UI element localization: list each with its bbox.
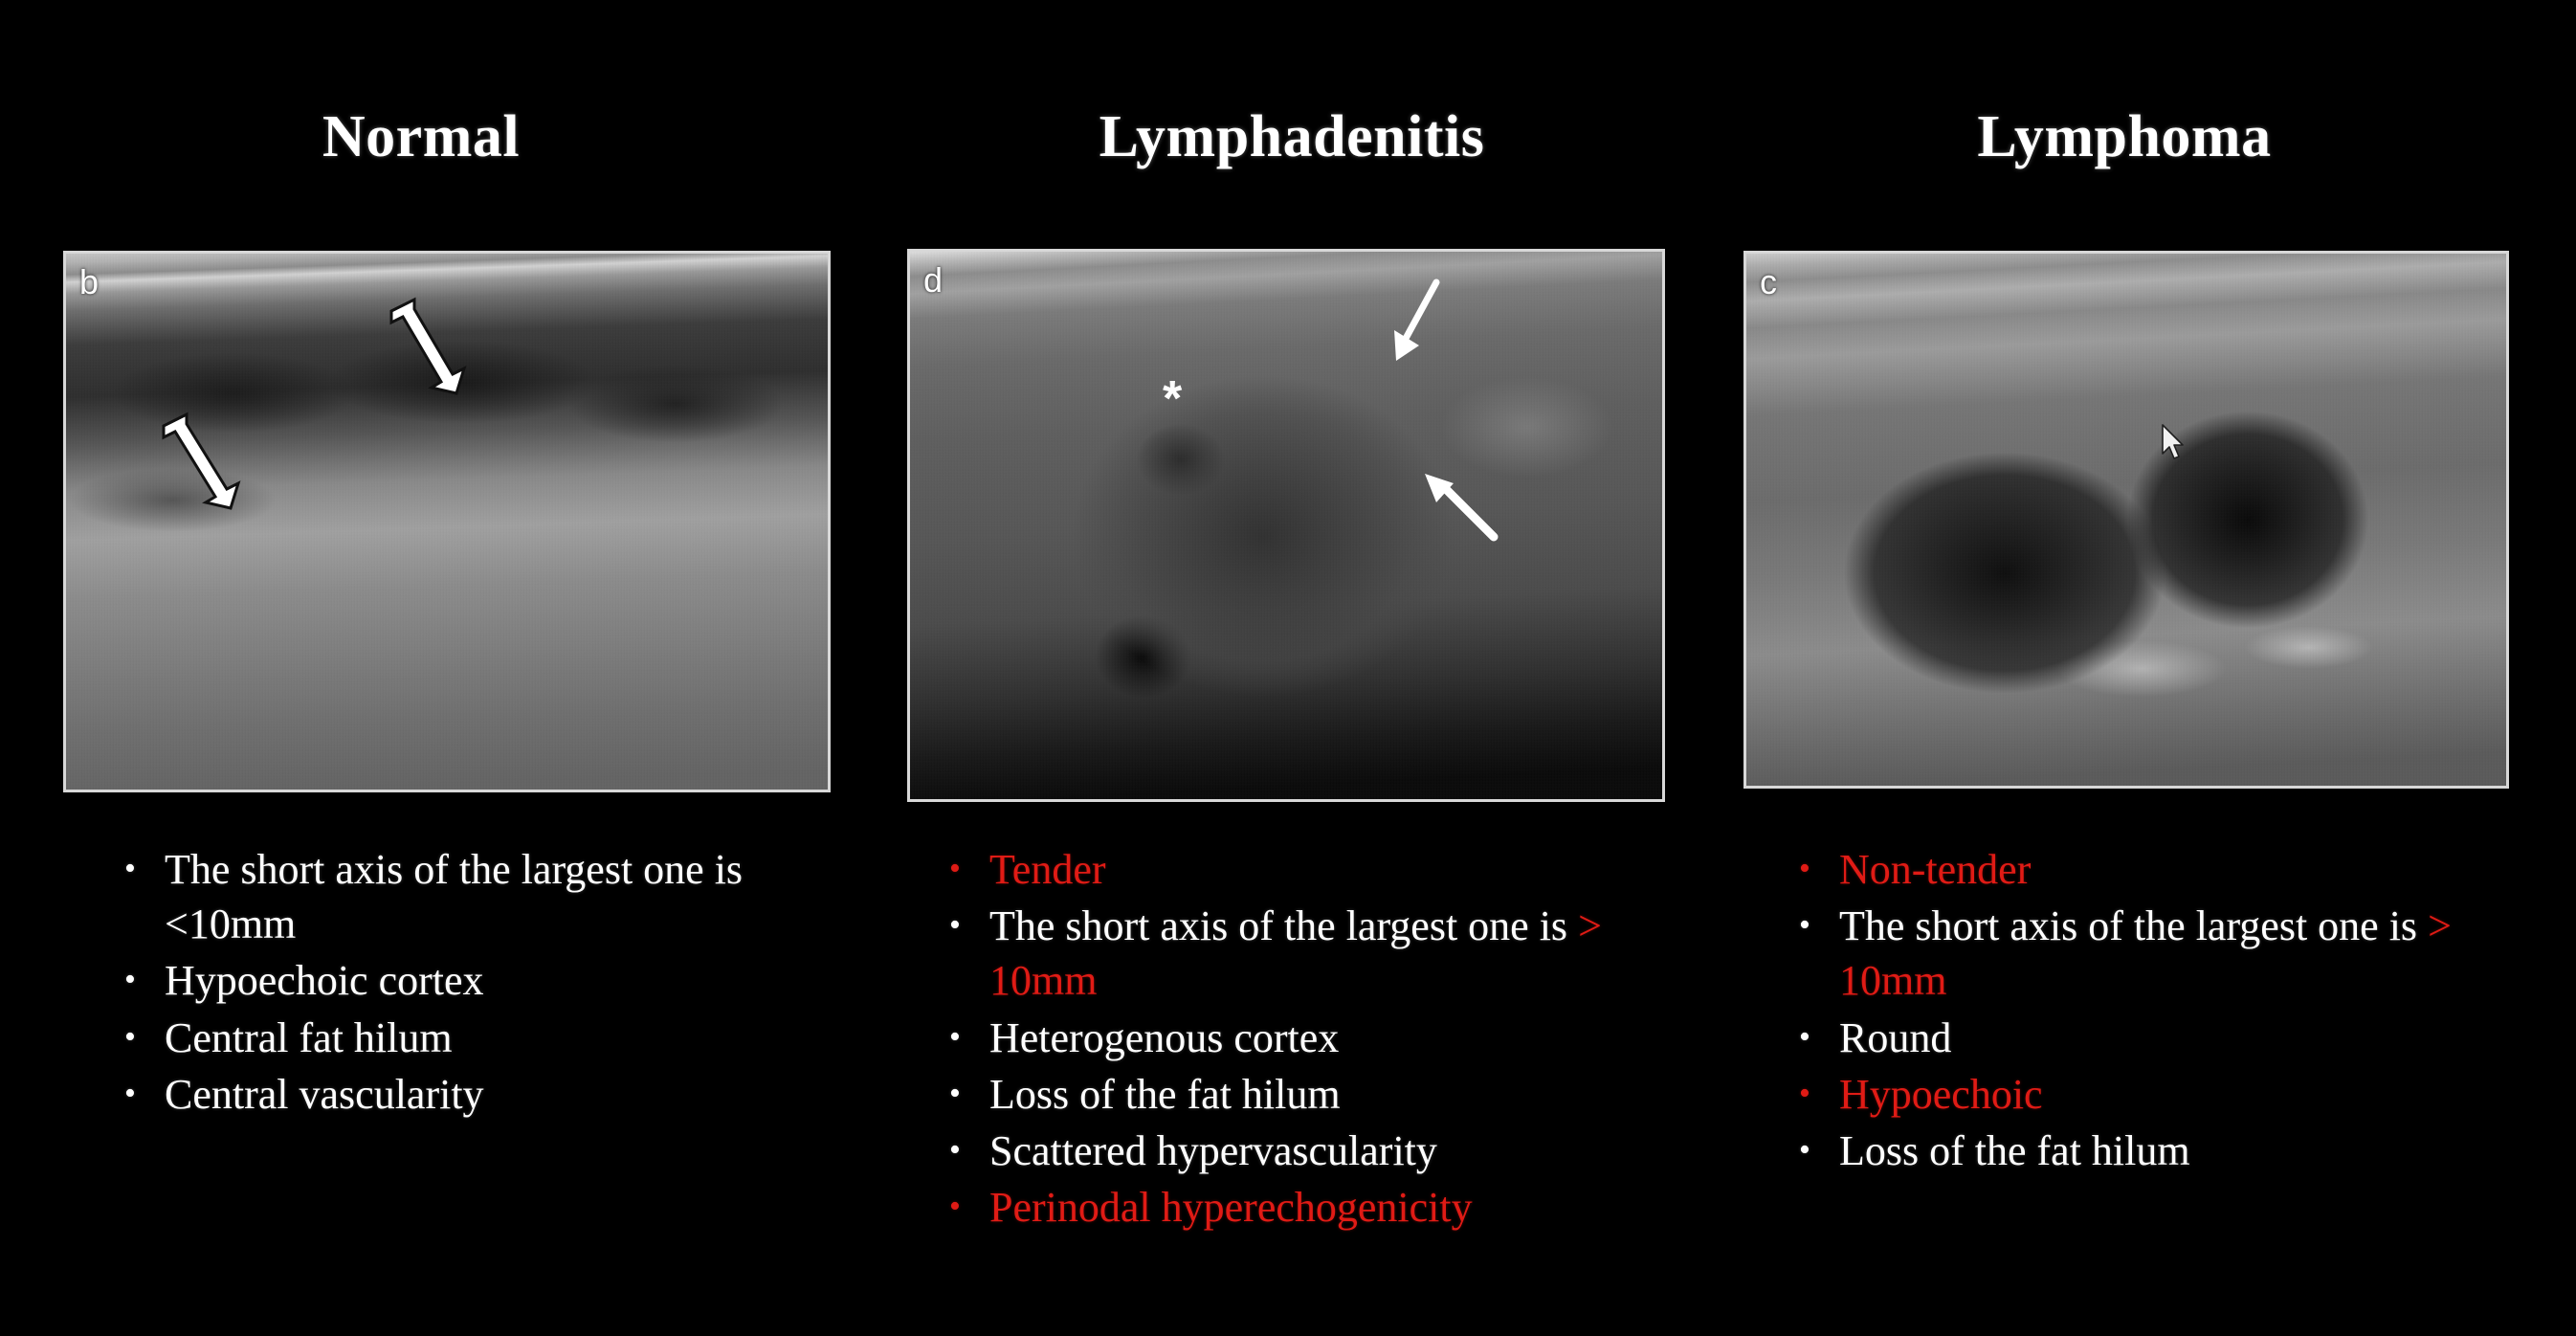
list-item: • The short axis of the largest one is >…: [1799, 899, 2555, 1008]
bullet-dot-icon: •: [949, 842, 989, 895]
bullet-dot-icon: •: [1799, 1124, 1839, 1176]
bullet-text: Heterogenous cortex: [989, 1011, 1677, 1065]
ultrasound-speckle: [1746, 254, 2506, 786]
bullet-text-segment: The short axis of the largest one is: [989, 902, 1578, 949]
bullet-list-normal: • The short axis of the largest one is <…: [124, 842, 823, 1124]
bullet-text: Loss of the fat hilum: [1839, 1124, 2555, 1178]
bullet-text: Non-tender: [1839, 842, 2555, 897]
list-item: • Tender: [949, 842, 1677, 897]
ultrasound-speckle: [910, 252, 1662, 799]
bullet-dot-icon: •: [1799, 1011, 1839, 1063]
ultrasound-image-lymphoma[interactable]: c: [1743, 251, 2509, 789]
bullet-text: Scattered hypervascularity: [989, 1124, 1677, 1178]
bullet-dot-icon: •: [1799, 899, 1839, 951]
bullet-text: Central vascularity: [165, 1067, 823, 1122]
bullet-text: Loss of the fat hilum: [989, 1067, 1677, 1122]
list-item: • Central fat hilum: [124, 1011, 823, 1065]
bullet-text: The short axis of the largest one is > 1…: [1839, 899, 2555, 1008]
bullet-text: Hypoechoic cortex: [165, 953, 823, 1008]
bullet-dot-icon: •: [1799, 842, 1839, 895]
column-title-normal: Normal: [38, 107, 804, 167]
ultrasound-image-lymphadenitis[interactable]: d *: [907, 249, 1665, 802]
comparison-columns: Normal b • The: [0, 0, 2576, 1336]
list-item: • Hypoechoic cortex: [124, 953, 823, 1008]
column-lymphadenitis: Lymphadenitis d *: [890, 0, 1694, 1336]
list-item: • Round: [1799, 1011, 2555, 1065]
bullet-text: Tender: [989, 842, 1677, 897]
list-item: • Hypoechoic: [1799, 1067, 2555, 1122]
bullet-text: The short axis of the largest one is <10…: [165, 842, 823, 951]
list-item: • Scattered hypervascularity: [949, 1124, 1677, 1178]
asterisk-marker-icon: *: [1163, 374, 1182, 424]
list-item: • The short axis of the largest one is <…: [124, 842, 823, 951]
list-item: • Central vascularity: [124, 1067, 823, 1122]
bullet-dot-icon: •: [949, 1011, 989, 1063]
bullet-text: Hypoechoic: [1839, 1067, 2555, 1122]
bullet-dot-icon: •: [124, 1011, 165, 1063]
bullet-dot-icon: •: [1799, 1067, 1839, 1120]
solid-arrow-icon-upper: [1381, 275, 1448, 370]
column-lymphoma: Lymphoma c • Non-tender • The short axis…: [1722, 0, 2545, 1336]
bullet-dot-icon: •: [949, 1067, 989, 1120]
list-item: • Loss of the fat hilum: [949, 1067, 1677, 1122]
bullet-text: Round: [1839, 1011, 2555, 1065]
bullet-dot-icon: •: [949, 1124, 989, 1176]
list-item: • The short axis of the largest one is >…: [949, 899, 1677, 1008]
list-item: • Perinodal hyperechogenicity: [949, 1180, 1677, 1235]
column-title-lymphadenitis: Lymphadenitis: [890, 107, 1694, 167]
bullet-text: The short axis of the largest one is > 1…: [989, 899, 1677, 1008]
list-item: • Heterogenous cortex: [949, 1011, 1677, 1065]
bullet-text: Central fat hilum: [165, 1011, 823, 1065]
bullet-list-lymphoma: • Non-tender • The short axis of the lar…: [1799, 842, 2555, 1180]
solid-arrow-icon-lower: [1411, 462, 1507, 548]
bullet-list-lymphadenitis: • Tender • The short axis of the largest…: [949, 842, 1677, 1236]
panel-label-b: b: [79, 265, 99, 300]
bullet-dot-icon: •: [124, 1067, 165, 1120]
bullet-dot-icon: •: [124, 842, 165, 895]
bullet-text-segment: The short axis of the largest one is: [1839, 902, 2428, 949]
hollow-arrow-icon-upper: [382, 294, 468, 399]
ultrasound-image-normal[interactable]: b: [63, 251, 831, 792]
bullet-dot-icon: •: [949, 1180, 989, 1233]
panel-label-d: d: [923, 263, 943, 298]
bullet-text: Perinodal hyperechogenicity: [989, 1180, 1677, 1235]
list-item: • Loss of the fat hilum: [1799, 1124, 2555, 1178]
bullet-dot-icon: •: [949, 899, 989, 951]
bullet-dot-icon: •: [124, 953, 165, 1006]
column-normal: Normal b • The: [38, 0, 861, 1336]
slide-canvas: Normal b • The: [0, 0, 2576, 1336]
column-title-lymphoma: Lymphoma: [1722, 107, 2526, 167]
hollow-arrow-icon-lower: [152, 407, 246, 512]
list-item: • Non-tender: [1799, 842, 2555, 897]
panel-label-c: c: [1760, 265, 1777, 300]
